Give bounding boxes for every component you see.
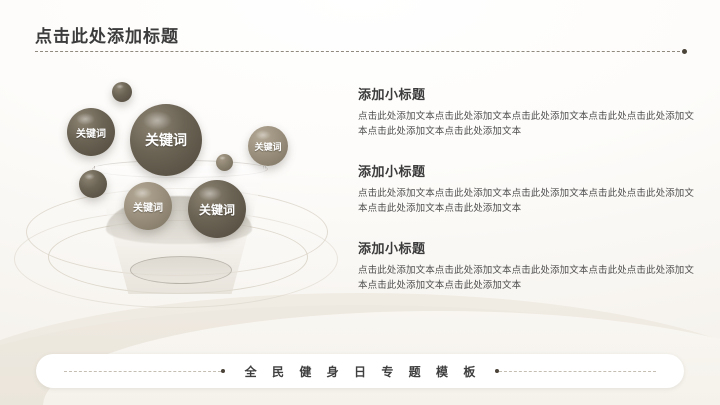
funnel-bubble-graphic: 关键词 关键词 关键词 关键词 关键词 (20, 70, 340, 330)
content-block-body: 点击此处添加文本点击此处添加文本点击此处添加文本点击此处点击此处添加文本点击此处… (358, 109, 694, 139)
content-block-body: 点击此处添加文本点击此处添加文本点击此处添加文本点击此处点击此处添加文本点击此处… (358, 186, 694, 216)
keyword-bubble-main[interactable]: 关键词 (130, 104, 202, 176)
title-divider (35, 49, 687, 55)
divider-end-dot-icon (682, 49, 687, 54)
content-block-heading: 添加小标题 (358, 84, 694, 103)
keyword-bubble-bottom-left[interactable]: 关键词 (124, 182, 172, 230)
keyword-bubble-label: 关键词 (254, 140, 281, 153)
content-block: 添加小标题 点击此处添加文本点击此处添加文本点击此处添加文本点击此处点击此处添加… (358, 161, 694, 216)
keyword-bubble-label: 关键词 (145, 130, 187, 150)
footer-dashed-line-left (64, 371, 221, 372)
keyword-bubble-right[interactable]: 关键词 (248, 126, 288, 166)
accent-bubble-small-right (216, 154, 233, 171)
content-block-body: 点击此处添加文本点击此处添加文本点击此处添加文本点击此处点击此处添加文本点击此处… (358, 263, 694, 293)
footer-banner-text: 全 民 健 身 日 专 题 模 板 (225, 363, 496, 380)
keyword-bubble-left[interactable]: 关键词 (67, 108, 115, 156)
footer-banner: 全 民 健 身 日 专 题 模 板 (36, 354, 684, 388)
content-panel: 添加小标题 点击此处添加文本点击此处添加文本点击此处添加文本点击此处点击此处添加… (358, 84, 694, 315)
slide-canvas: 点击此处添加标题 关键词 关键词 关键词 关键词 关键词 (0, 0, 720, 405)
keyword-bubble-bottom-right[interactable]: 关键词 (188, 180, 246, 238)
content-block: 添加小标题 点击此处添加文本点击此处添加文本点击此处添加文本点击此处点击此处添加… (358, 238, 694, 293)
page-title: 点击此处添加标题 (35, 22, 179, 47)
divider-dashed-line (35, 51, 680, 52)
footer-dashed-line-right (499, 371, 656, 372)
keyword-bubble-label: 关键词 (76, 125, 106, 140)
accent-bubble-small-top (112, 82, 132, 102)
content-block: 添加小标题 点击此处添加文本点击此处添加文本点击此处添加文本点击此处点击此处添加… (358, 84, 694, 139)
accent-bubble-small-left (79, 170, 107, 198)
funnel-base-ellipse (130, 256, 232, 284)
content-block-heading: 添加小标题 (358, 161, 694, 180)
keyword-bubble-label: 关键词 (199, 201, 235, 218)
content-block-heading: 添加小标题 (358, 238, 694, 257)
keyword-bubble-label: 关键词 (133, 199, 163, 214)
